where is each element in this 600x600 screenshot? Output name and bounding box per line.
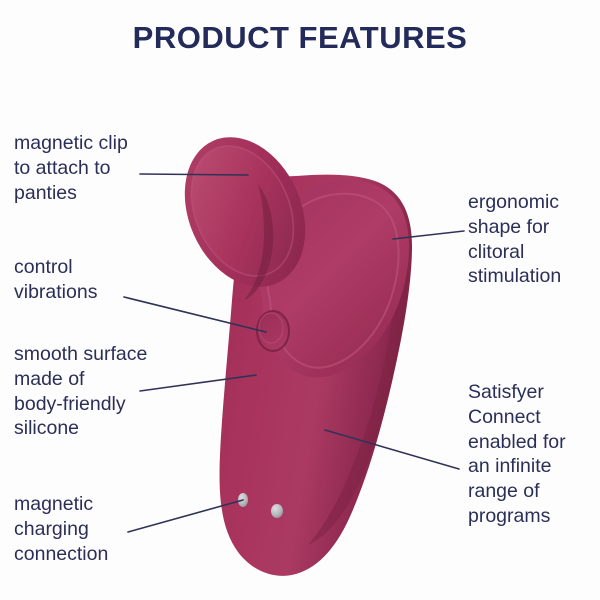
callout-satisfyer-connect: Satisfyer Connect enabled for an infinit… [468, 380, 566, 529]
callout-control-vibrations: control vibrations [14, 255, 97, 305]
callout-smooth-surface: smooth surface made of body-friendly sil… [14, 342, 147, 441]
callout-magnetic-clip: magnetic clip to attach to panties [14, 131, 128, 205]
callout-ergonomic-shape: ergonomic shape for clitoral stimulation [468, 190, 561, 289]
product-features-infographic: PRODUCT FEATURES [0, 0, 600, 600]
charging-contact-pin-2 [271, 504, 283, 518]
leader-magnetic-clip [140, 174, 248, 175]
callout-magnetic-charging: magnetic charging connection [14, 492, 108, 566]
